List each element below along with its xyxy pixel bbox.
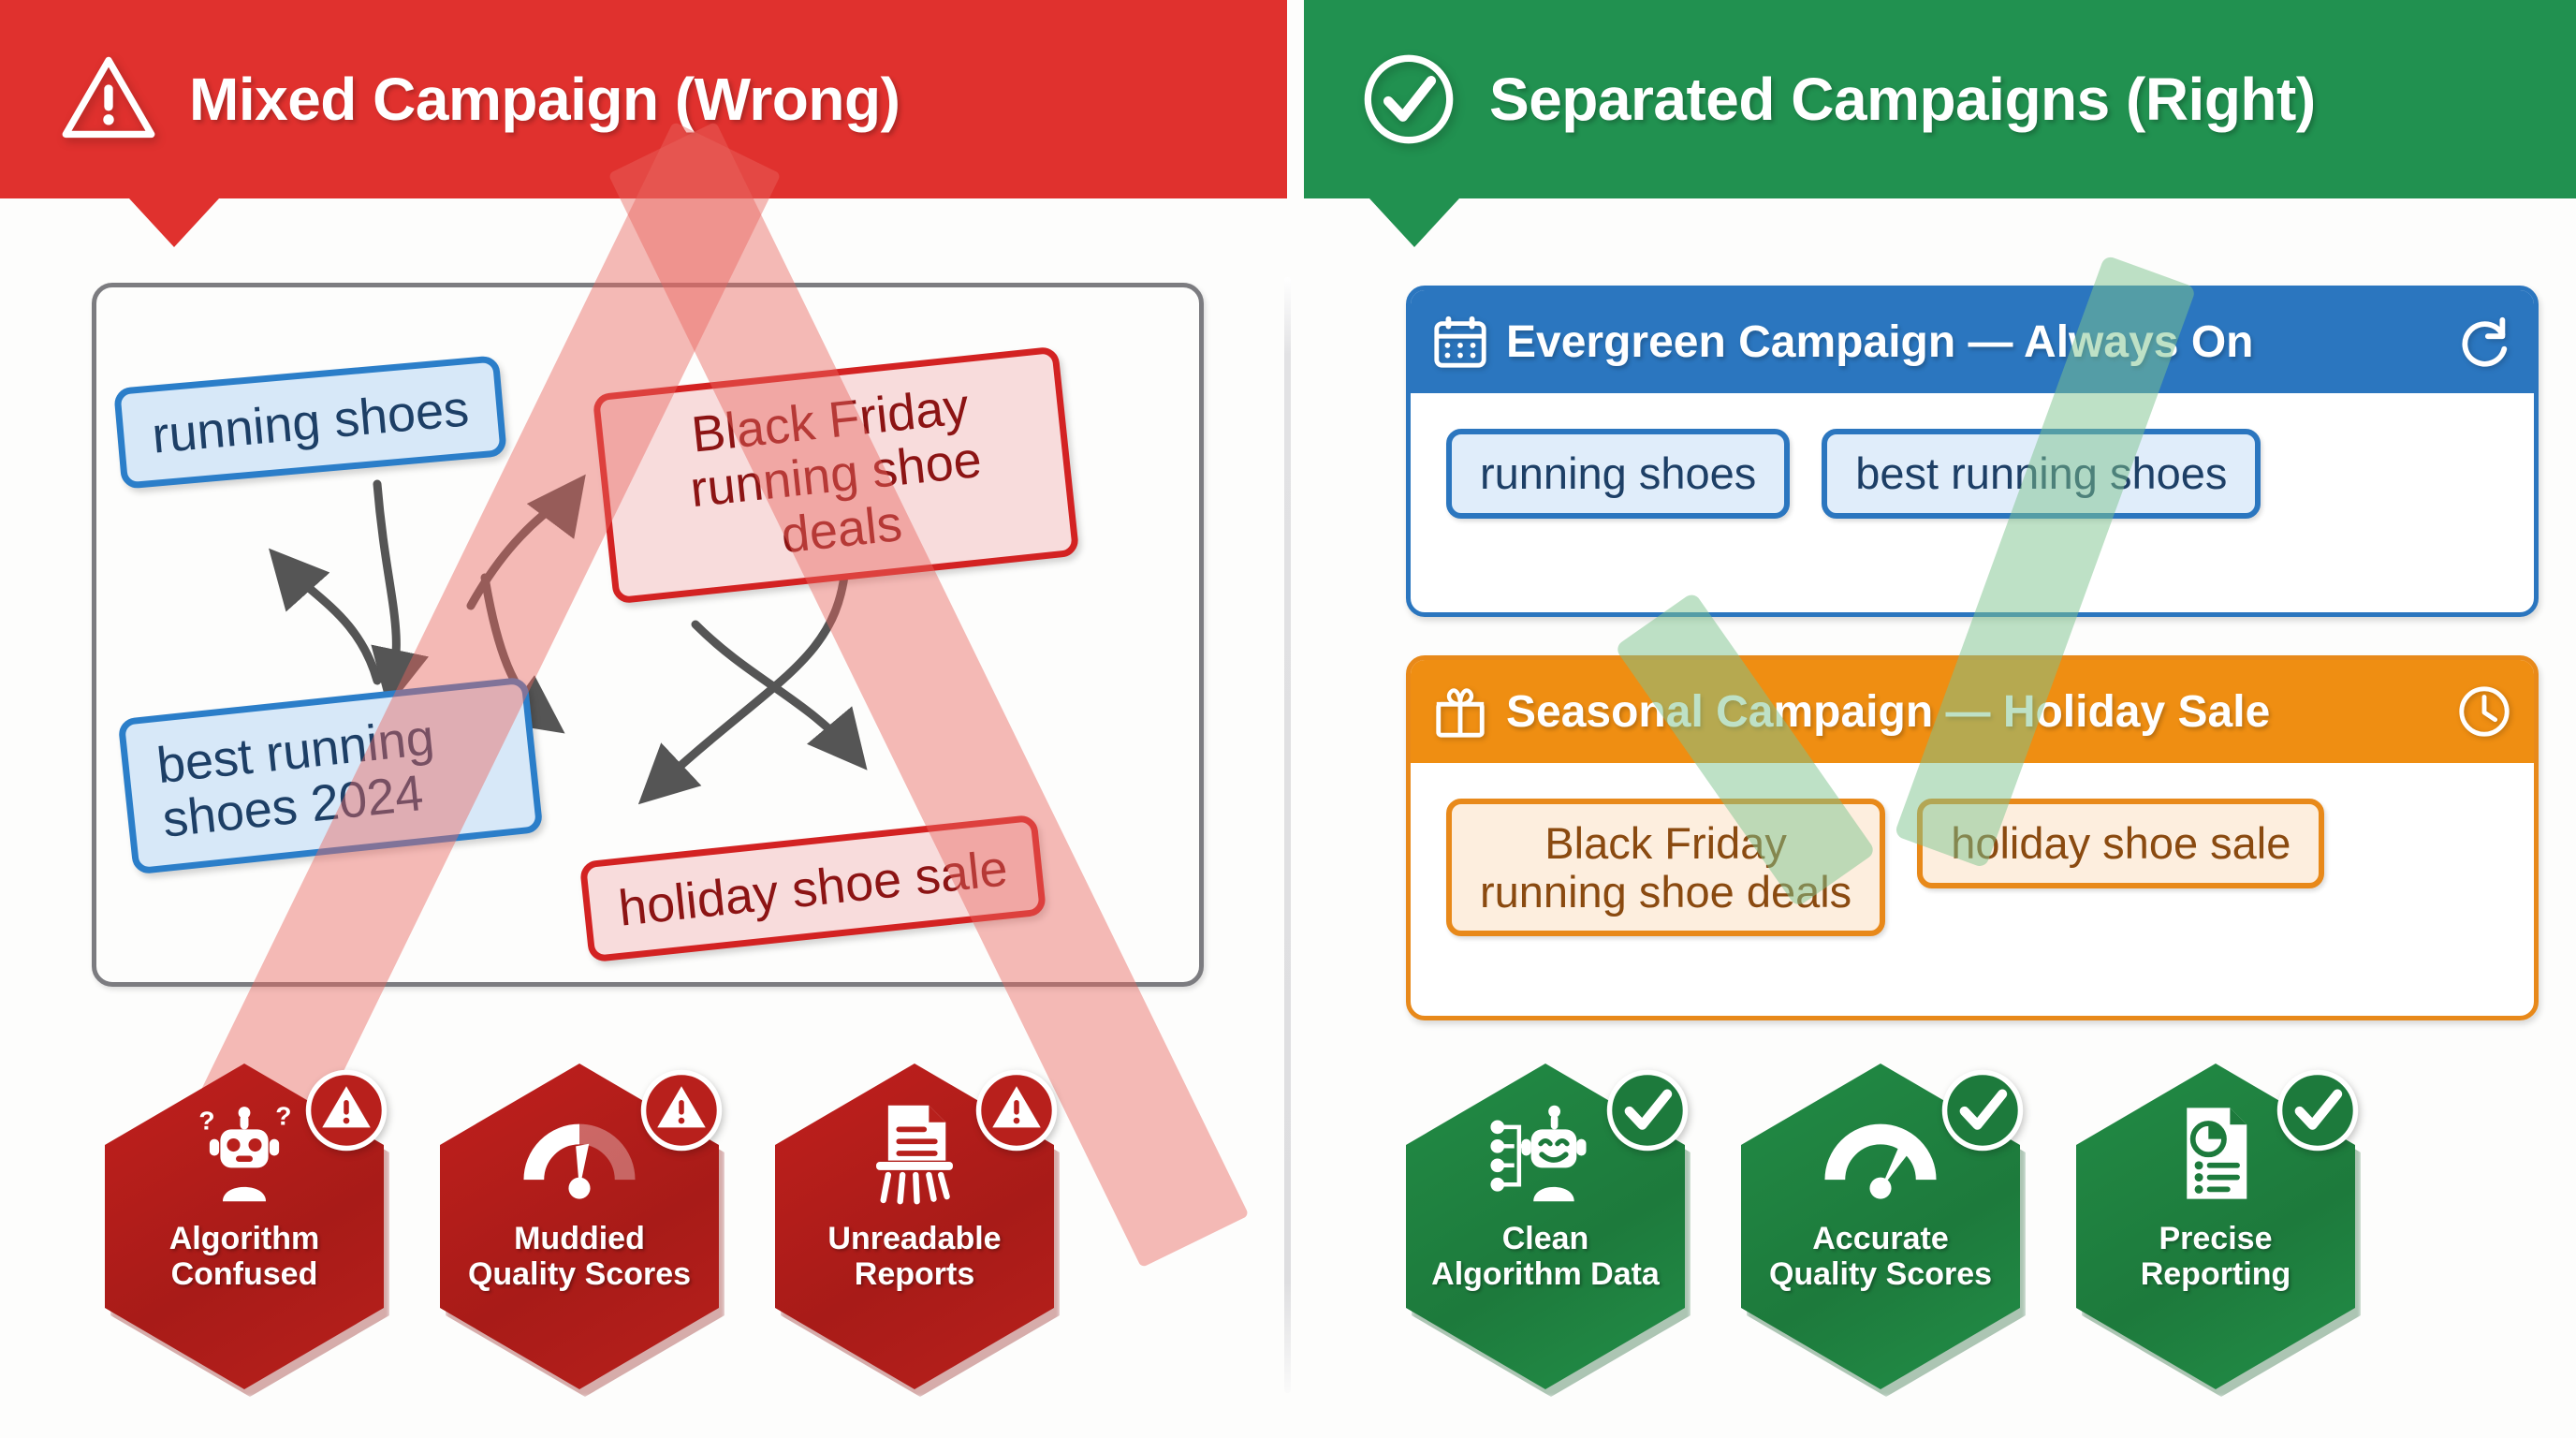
campaign-card-evergreen[interactable]: Evergreen Campaign — Always On running s… [1406, 286, 2539, 617]
campaign-header-evergreen: Evergreen Campaign — Always On [1411, 290, 2534, 393]
warning-triangle-icon [303, 1067, 389, 1153]
badge-label: Precise Reporting [2130, 1221, 2303, 1292]
campaign-title-evergreen: Evergreen Campaign — Always On [1506, 316, 2438, 368]
keyword-chip[interactable]: holiday shoe sale [579, 814, 1047, 963]
campaign-keyword-chip[interactable]: Black Friday running shoe deals [1446, 799, 1885, 936]
gift-icon [1431, 682, 1489, 741]
badge-accurate-quality-scores[interactable]: Accurate Quality Scores [1741, 1064, 2020, 1389]
header-separated-campaigns: Separated Campaigns (Right) [1304, 0, 2576, 198]
badge-label: Unreadable Reports [816, 1221, 1012, 1292]
badge-label: Clean Algorithm Data [1420, 1221, 1671, 1292]
infographic-root: Mixed Campaign (Wrong) Separated Campaig… [0, 0, 2576, 1438]
check-circle-icon [1360, 51, 1457, 148]
header-left-title: Mixed Campaign (Wrong) [189, 65, 900, 134]
campaign-keyword-chip[interactable]: best running shoes [1822, 429, 2261, 519]
positive-outcome-badges: Clean Algorithm Data Accurate Quality Sc… [1406, 1064, 2355, 1389]
header-mixed-campaign: Mixed Campaign (Wrong) [0, 0, 1287, 198]
warning-triangle-icon [60, 51, 157, 148]
happy-robot-data-icon [1486, 1093, 1605, 1213]
keyword-chip[interactable]: Black Friday running shoe deals [593, 345, 1080, 604]
check-circle-icon [2275, 1067, 2361, 1153]
keyword-chip[interactable]: running shoes [113, 355, 507, 490]
header-right-pointer [1369, 198, 1459, 247]
badge-clean-algorithm-data[interactable]: Clean Algorithm Data [1406, 1064, 1685, 1389]
panel-divider [1284, 277, 1291, 1393]
badge-label: Muddied Quality Scores [457, 1221, 702, 1292]
mixed-campaign-box: running shoes Black Friday running shoe … [92, 283, 1204, 987]
calendar-icon [1431, 313, 1489, 371]
header-right-title: Separated Campaigns (Right) [1489, 65, 2316, 134]
refresh-cycle-icon [2455, 313, 2513, 371]
badge-label: Accurate Quality Scores [1758, 1221, 2003, 1292]
campaign-card-seasonal[interactable]: Seasonal Campaign — Holiday Sale Black F… [1406, 655, 2539, 1020]
check-circle-icon [1939, 1067, 2026, 1153]
warning-triangle-icon [638, 1067, 724, 1153]
badge-precise-reporting[interactable]: Precise Reporting [2076, 1064, 2355, 1389]
gauge-icon [1821, 1093, 1940, 1213]
campaign-keyword-chip[interactable]: running shoes [1446, 429, 1790, 519]
campaign-body-seasonal: Black Friday running shoe deals holiday … [1411, 763, 2534, 964]
svg-text:?: ? [275, 1101, 291, 1130]
confused-robot-icon: ?? [184, 1093, 304, 1213]
badge-unreadable-reports[interactable]: Unreadable Reports [775, 1064, 1054, 1389]
warning-triangle-icon [973, 1067, 1060, 1153]
shredded-document-icon [855, 1093, 974, 1213]
badge-label: Algorithm Confused [158, 1221, 331, 1292]
check-circle-icon [1604, 1067, 1690, 1153]
badge-muddied-quality-scores[interactable]: Muddied Quality Scores [440, 1064, 719, 1389]
negative-outcome-badges: ?? Algorithm Confused [105, 1064, 1054, 1389]
campaign-title-seasonal: Seasonal Campaign — Holiday Sale [1506, 686, 2438, 738]
gauge-icon [520, 1093, 639, 1213]
campaign-keyword-chip[interactable]: holiday shoe sale [1917, 799, 2324, 888]
campaign-body-evergreen: running shoes best running shoes [1411, 393, 2534, 547]
clock-icon [2455, 682, 2513, 741]
report-chart-document-icon [2156, 1093, 2276, 1213]
campaign-header-seasonal: Seasonal Campaign — Holiday Sale [1411, 660, 2534, 763]
header-left-pointer [129, 198, 219, 247]
badge-algorithm-confused[interactable]: ?? Algorithm Confused [105, 1064, 384, 1389]
svg-text:?: ? [198, 1106, 214, 1135]
keyword-chip[interactable]: best running shoes 2024 [117, 676, 543, 874]
